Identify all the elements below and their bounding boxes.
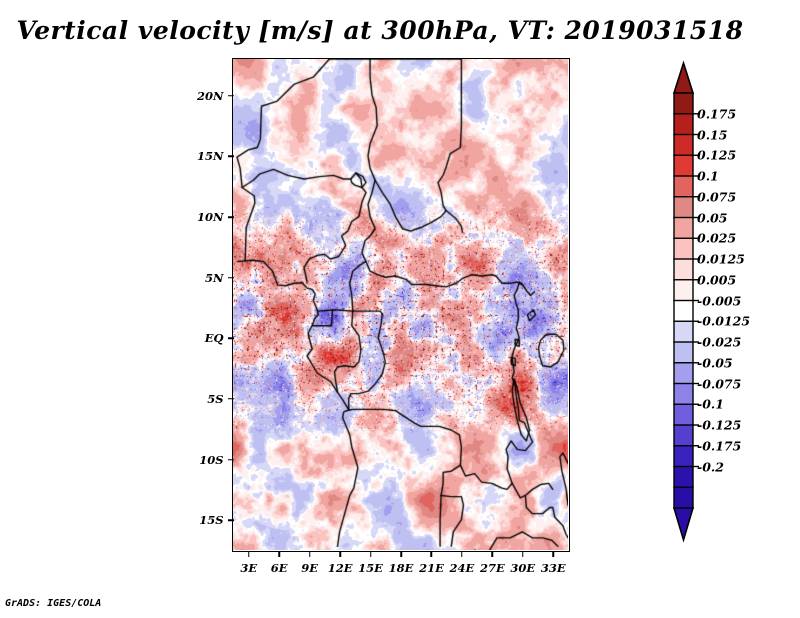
x-axis-tick-mark	[370, 551, 372, 557]
colorbar-segment	[674, 135, 693, 156]
colorbar-tick-label: -0.05	[697, 355, 733, 370]
x-axis-tick-mark	[278, 551, 280, 557]
colorbar-tick-label: 0.05	[697, 210, 727, 225]
x-axis-tick-mark	[522, 551, 524, 557]
y-axis-tick-label: 10S	[182, 453, 224, 467]
y-axis-tick-mark	[228, 216, 234, 218]
colorbar: 0.1750.150.1250.10.0750.050.0250.01250.0…	[666, 58, 796, 558]
colorbar-tick-label: 0.0125	[697, 252, 745, 267]
colorbar-tick-label: -0.175	[697, 438, 741, 453]
colorbar-tick-label: -0.1	[697, 397, 724, 412]
y-axis-tick-label: 15N	[182, 149, 224, 163]
x-axis-tick-mark	[309, 551, 311, 557]
colorbar-segment	[674, 114, 693, 135]
colorbar-segment	[674, 301, 693, 322]
colorbar-segment	[674, 467, 693, 488]
x-axis-tick-label: 24E	[450, 561, 475, 575]
y-axis-tick-mark	[228, 156, 234, 158]
colorbar-tick-label: -0.005	[697, 293, 741, 308]
x-axis-tick-mark	[400, 551, 402, 557]
y-axis-tick-label: 15S	[182, 513, 224, 527]
y-axis-tick-mark	[228, 338, 234, 340]
colorbar-swatches	[666, 58, 796, 558]
colorbar-tick-label: -0.075	[697, 376, 741, 391]
y-axis-tick-mark	[228, 277, 234, 279]
colorbar-tick-label: 0.005	[697, 272, 736, 287]
x-axis-tick-label: 9E	[301, 561, 318, 575]
colorbar-segment	[674, 404, 693, 425]
colorbar-max-arrow	[674, 63, 693, 93]
colorbar-segment	[674, 425, 693, 446]
colorbar-segment	[674, 321, 693, 342]
page-title: Vertical velocity [m/s] at 300hPa, VT: 2…	[0, 16, 760, 45]
colorbar-tick-label: 0.175	[697, 106, 736, 121]
colorbar-segment	[674, 259, 693, 280]
x-axis-tick-label: 21E	[419, 561, 444, 575]
y-axis-tick-mark	[228, 459, 234, 461]
colorbar-tick-label: 0.15	[697, 127, 727, 142]
y-axis-tick-label: EQ	[182, 331, 224, 345]
colorbar-tick-label: -0.025	[697, 335, 741, 350]
x-axis-tick-label: 3E	[240, 561, 257, 575]
colorbar-segment	[674, 487, 693, 508]
colorbar-segment	[674, 238, 693, 259]
colorbar-segment	[674, 363, 693, 384]
x-axis-tick-label: 30E	[510, 561, 535, 575]
x-axis-tick-mark	[461, 551, 463, 557]
country-borders-overlay	[233, 59, 568, 550]
x-axis-tick-label: 15E	[358, 561, 383, 575]
y-axis-tick-mark	[228, 95, 234, 97]
x-axis-tick-mark	[339, 551, 341, 557]
x-axis-tick-label: 6E	[271, 561, 288, 575]
x-axis-tick-mark	[553, 551, 555, 557]
x-axis-tick-mark	[492, 551, 494, 557]
y-axis-tick-label: 5N	[182, 271, 224, 285]
x-axis-tick-label: 18E	[389, 561, 414, 575]
colorbar-tick-label: 0.125	[697, 148, 736, 163]
colorbar-segment	[674, 342, 693, 363]
colorbar-tick-label: 0.1	[697, 169, 719, 184]
colorbar-tick-label: 0.025	[697, 231, 736, 246]
colorbar-segment	[674, 176, 693, 197]
x-axis-tick-mark	[431, 551, 433, 557]
y-axis-tick-label: 10N	[182, 210, 224, 224]
y-axis-tick-mark	[228, 519, 234, 521]
x-axis-tick-label: 12E	[328, 561, 353, 575]
colorbar-tick-label: -0.125	[697, 418, 741, 433]
colorbar-segment	[674, 197, 693, 218]
colorbar-segment	[674, 155, 693, 176]
map-plot-area	[232, 58, 570, 552]
y-axis-tick-label: 20N	[182, 89, 224, 103]
colorbar-segment	[674, 384, 693, 405]
colorbar-min-arrow	[674, 508, 693, 540]
x-axis-tick-label: 33E	[541, 561, 566, 575]
colorbar-segment	[674, 93, 693, 114]
colorbar-tick-label: 0.075	[697, 189, 736, 204]
y-axis-tick-mark	[228, 398, 234, 400]
colorbar-segment	[674, 218, 693, 239]
colorbar-tick-label: -0.2	[697, 459, 724, 474]
colorbar-tick-label: -0.0125	[697, 314, 750, 329]
colorbar-segment	[674, 280, 693, 301]
y-axis-tick-label: 5S	[182, 392, 224, 406]
x-axis-tick-label: 27E	[480, 561, 505, 575]
grads-attribution: GrADS: IGES/COLA	[5, 598, 101, 609]
colorbar-segment	[674, 446, 693, 467]
x-axis-tick-mark	[248, 551, 250, 557]
